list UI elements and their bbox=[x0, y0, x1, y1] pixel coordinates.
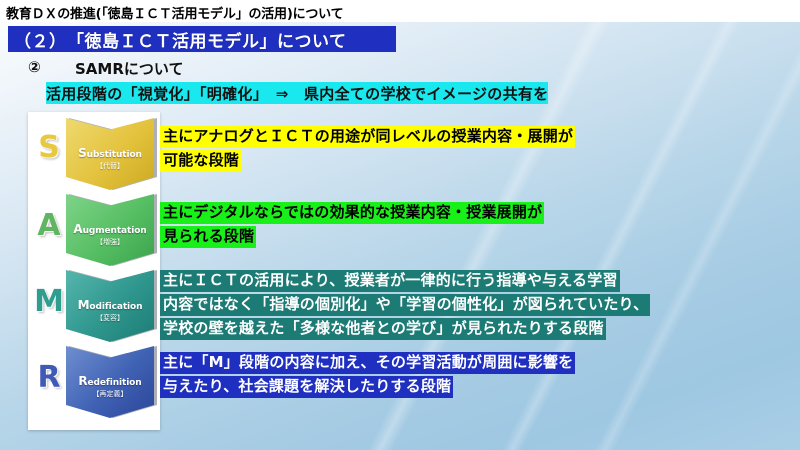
stage-label-augmentation: Augmentation bbox=[73, 223, 146, 236]
header-note: 教育ＤＸの推進(「徳島ＩＣＴ活用モデル」の活用)について bbox=[6, 3, 343, 22]
stage-initial-redefinition: R bbox=[78, 374, 87, 388]
description-text: 可能な段階 bbox=[160, 150, 241, 172]
stage-jp-modification: 【変容】 bbox=[96, 315, 124, 322]
stage-initial-modification: M bbox=[78, 298, 90, 312]
description-text: 内容ではなく「指導の個別化」や「学習の個性化」が図られていたり、 bbox=[160, 294, 650, 316]
stage-initial-augmentation: A bbox=[73, 222, 82, 236]
description-line: 与えたり、社会課題を解決したりする段階 bbox=[160, 376, 575, 398]
description-line: 主にアナログとＩＣＴの用途が同レベルの授業内容・展開が bbox=[160, 126, 575, 148]
description-modification: 主にＩＣＴの活用により、授業者が一律的に行う指導や与える学習 内容ではなく「指導… bbox=[160, 270, 650, 342]
slide-title: （２） 「徳島ＩＣＴ活用モデル」について bbox=[8, 27, 347, 52]
stage-rest-modification: odification bbox=[89, 302, 142, 312]
description-augmentation: 主にデジタルならではの効果的な授業内容・授業展開が 見られる段階 bbox=[160, 202, 544, 250]
description-text: 見られる段階 bbox=[160, 226, 256, 248]
description-line: 主に「M」段階の内容に加え、その学習活動が周囲に影響を bbox=[160, 352, 575, 374]
stage-rest-substitution: ubstitution bbox=[87, 150, 142, 160]
stage-label-substitution: Substitution bbox=[78, 147, 142, 160]
samr-diagram-card: S A M R Substitution 【代替】 Augmentation 【… bbox=[28, 112, 160, 430]
stage-rest-redefinition: edefinition bbox=[88, 378, 142, 388]
subtitle-highlight: 活用段階の「視覚化」「明確化」 ⇒ 県内全ての学校でイメージの共有を bbox=[46, 82, 548, 104]
description-line: 主にＩＣＴの活用により、授業者が一律的に行う指導や与える学習 bbox=[160, 270, 650, 292]
samr-letter-a: A bbox=[32, 208, 66, 243]
description-text: 主にアナログとＩＣＴの用途が同レベルの授業内容・展開が bbox=[160, 126, 575, 148]
description-line: 学校の壁を越えた「多様な他者との学び」が見られたりする段階 bbox=[160, 318, 650, 340]
description-redefinition: 主に「M」段階の内容に加え、その学習活動が周囲に影響を 与えたり、社会課題を解決… bbox=[160, 352, 575, 400]
description-text: 学校の壁を越えた「多様な他者との学び」が見られたりする段階 bbox=[160, 318, 606, 340]
samr-letter-s: S bbox=[32, 130, 66, 165]
stage-rest-augmentation: ugmentation bbox=[83, 226, 147, 236]
description-line: 内容ではなく「指導の個別化」や「学習の個性化」が図られていたり、 bbox=[160, 294, 650, 316]
samr-stage-blocks: Substitution 【代替】 Augmentation 【増強】 Modi… bbox=[66, 118, 158, 424]
section-title: SAMRについて bbox=[75, 58, 183, 79]
stage-jp-redefinition: 【再定義】 bbox=[93, 391, 128, 398]
description-text: 主に「M」段階の内容に加え、その学習活動が周囲に影響を bbox=[160, 352, 575, 374]
description-line: 見られる段階 bbox=[160, 226, 544, 248]
stage-label-redefinition: Redefinition bbox=[78, 375, 141, 388]
samr-letters-column: S A M R bbox=[28, 112, 70, 430]
description-text: 主にデジタルならではの効果的な授業内容・授業展開が bbox=[160, 202, 544, 224]
stage-jp-augmentation: 【増強】 bbox=[96, 239, 124, 246]
description-substitution: 主にアナログとＩＣＴの用途が同レベルの授業内容・展開が 可能な段階 bbox=[160, 126, 575, 174]
description-line: 主にデジタルならではの効果的な授業内容・授業展開が bbox=[160, 202, 544, 224]
slide-canvas: 教育ＤＸの推進(「徳島ＩＣＴ活用モデル」の活用)について （２） 「徳島ＩＣＴ活… bbox=[0, 0, 800, 450]
slide-title-bar: （２） 「徳島ＩＣＴ活用モデル」について bbox=[8, 26, 396, 52]
subtitle-text: 活用段階の「視覚化」「明確化」 ⇒ 県内全ての学校でイメージの共有を bbox=[46, 83, 548, 104]
samr-letter-m: M bbox=[32, 284, 66, 319]
stage-jp-substitution: 【代替】 bbox=[96, 163, 124, 170]
section-number: ② bbox=[28, 58, 41, 76]
description-text: 主にＩＣＴの活用により、授業者が一律的に行う指導や与える学習 bbox=[160, 270, 620, 292]
description-line: 可能な段階 bbox=[160, 150, 575, 172]
samr-letter-r: R bbox=[32, 360, 66, 395]
description-text: 与えたり、社会課題を解決したりする段階 bbox=[160, 376, 453, 398]
stage-label-modification: Modification bbox=[78, 299, 143, 312]
stage-initial-substitution: S bbox=[78, 146, 87, 160]
